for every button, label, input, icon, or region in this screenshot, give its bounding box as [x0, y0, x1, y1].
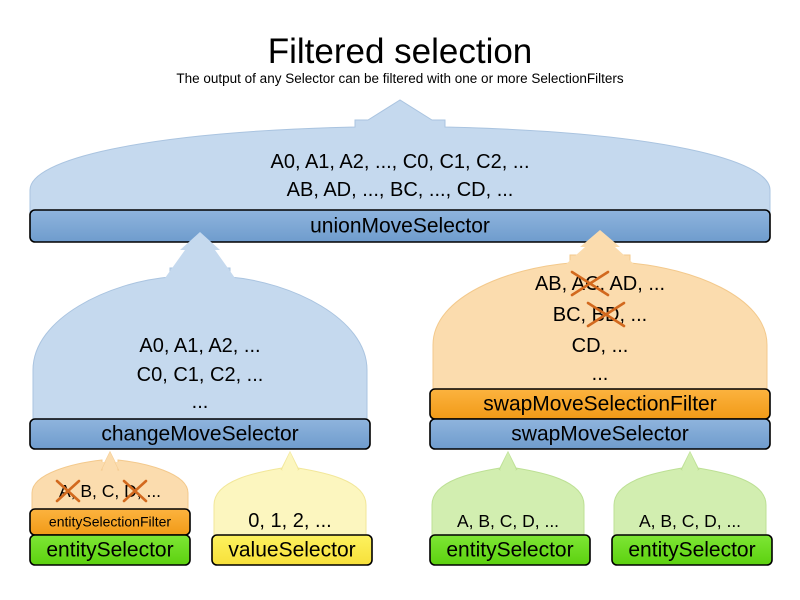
change-output-line-1: A0, A1, A2, ... — [139, 335, 260, 357]
swap-move-selection-filter-label: swapMoveSelectionFilter — [483, 393, 716, 416]
swap-output-line-2: BC, BD, ... — [553, 304, 647, 326]
value-output-line-1: 0, 1, 2, ... — [248, 510, 331, 532]
union-move-selector-label: unionMoveSelector — [310, 215, 490, 238]
entity-swap-right-output-line-1: A, B, C, D, ... — [639, 511, 741, 531]
swap-move-selector-group: AB, AC, AD, ... BC, BD, ... CD, ... ... … — [430, 236, 770, 449]
filtered-selection-diagram: Filtered selection The output of any Sel… — [0, 0, 800, 600]
change-output-line-2: C0, C1, C2, ... — [137, 364, 264, 386]
change-move-selector-group: A0, A1, A2, ... C0, C1, C2, ... ... chan… — [30, 248, 370, 449]
union-output-line-1: A0, A1, A2, ..., C0, C1, C2, ... — [270, 151, 529, 173]
page-subtitle: The output of any Selector can be filter… — [176, 71, 623, 86]
change-output-line-3: ... — [192, 391, 209, 413]
diagram-canvas: Filtered selection The output of any Sel… — [0, 0, 800, 600]
entity-selector-filtered-group: A, B, C, D, ... entitySelectionFilter en… — [30, 452, 190, 565]
change-move-selector-label: changeMoveSelector — [101, 423, 298, 446]
swap-output-line-3: CD, ... — [572, 335, 629, 357]
value-selector-label: valueSelector — [228, 539, 355, 562]
page-title: Filtered selection — [268, 32, 533, 71]
entity-selector-swap-left-label: entitySelector — [446, 539, 573, 562]
swap-output-line-4: ... — [592, 363, 609, 385]
union-output-line-2: AB, AD, ..., BC, ..., CD, ... — [287, 179, 514, 201]
union-move-selector-group: A0, A1, A2, ..., C0, C1, C2, ... AB, AD,… — [30, 100, 770, 242]
entity-selector-filtered-label: entitySelector — [46, 539, 173, 562]
entity-swap-left-output-line-1: A, B, C, D, ... — [457, 511, 559, 531]
swap-move-selector-label: swapMoveSelector — [511, 423, 688, 446]
entity-selector-swap-right-label: entitySelector — [628, 539, 755, 562]
entity-selection-filter-label: entitySelectionFilter — [49, 514, 172, 530]
